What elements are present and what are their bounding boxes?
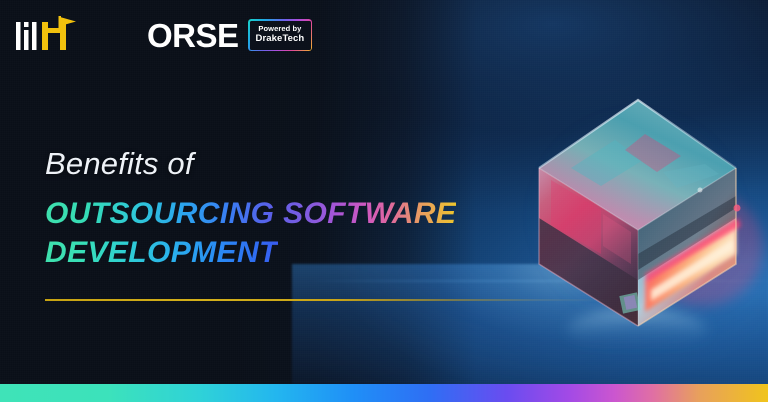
- hero-headline-line-1: OUTSOURCING SOFTWARE: [45, 194, 456, 233]
- badge-line-1: Powered by: [256, 24, 305, 33]
- badge-line-2: DrakeTech: [256, 33, 305, 45]
- lilhorse-logo-mark[interactable]: [16, 18, 138, 52]
- background-reflective-floor: [292, 264, 768, 384]
- hero-headline: OUTSOURCING SOFTWARE DEVELOPMENT: [45, 194, 545, 272]
- brand-logo-row[interactable]: ORSE Powered by DrakeTech: [16, 18, 312, 52]
- logo-wordmark: ORSE: [147, 19, 239, 52]
- powered-by-badge[interactable]: Powered by DrakeTech: [248, 19, 313, 51]
- hero-kicker: Benefits of: [45, 146, 545, 183]
- hero-banner: ORSE Powered by DrakeTech Benefits of OU…: [0, 0, 768, 402]
- hero-copy-block: Benefits of OUTSOURCING SOFTWARE DEVELOP…: [45, 146, 545, 272]
- hero-headline-line-2: DEVELOPMENT: [45, 233, 278, 272]
- lilhorse-h-mark: [16, 16, 138, 52]
- rainbow-gradient-bar: [0, 384, 768, 402]
- gold-divider-rule: [45, 299, 605, 301]
